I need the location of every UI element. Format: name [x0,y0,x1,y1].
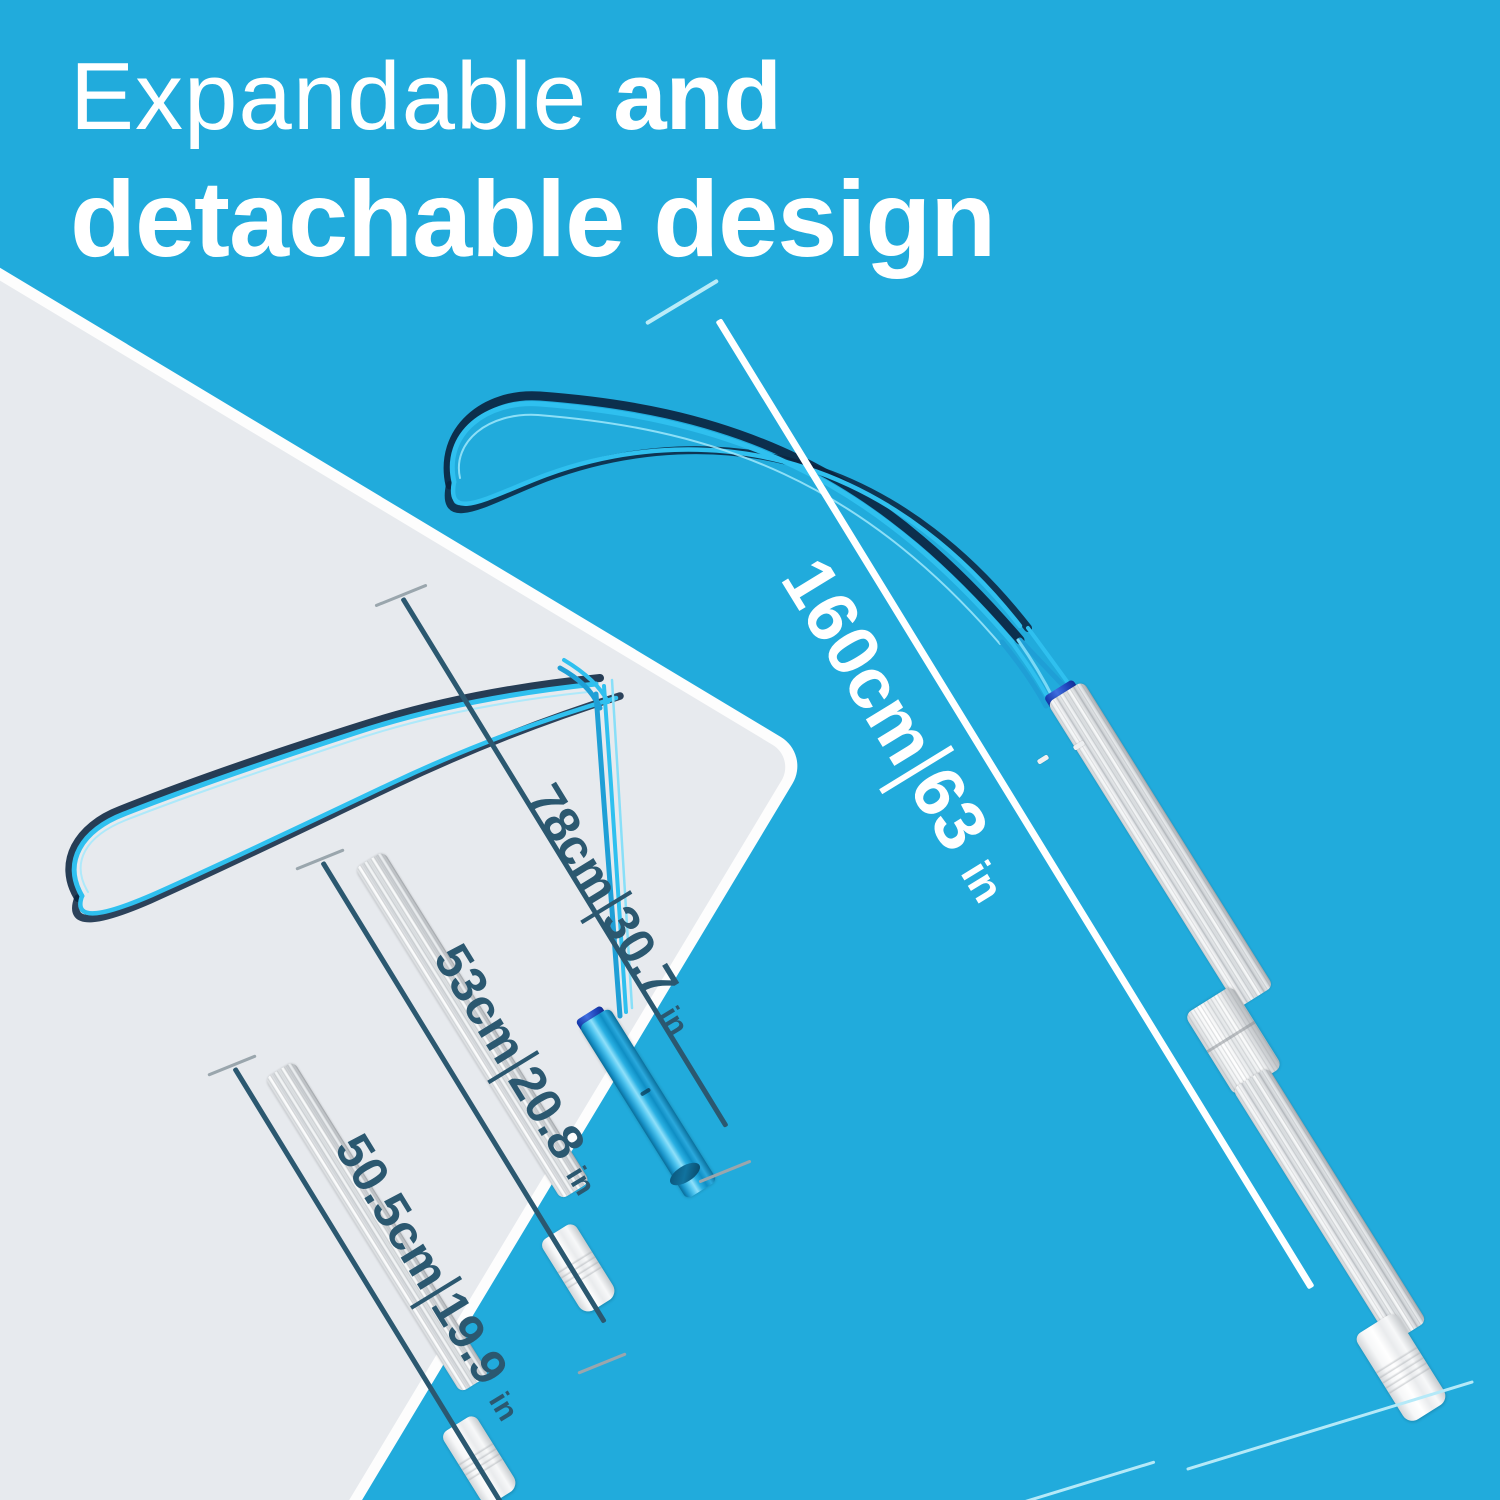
measure-tick-bottom-left-full-length [935,1460,1156,1500]
headline-line-2: detachable design [70,164,1410,274]
headline-word-expandable: Expandable [70,43,587,150]
headline-line-1: Expandable and [70,48,1410,146]
steel-pole-upper-assembled [1047,681,1273,1009]
end-cap-ribs [1375,1345,1432,1397]
measure-tick-bottom-mid-section [577,1352,626,1374]
hook-strand-upper-detached [560,660,640,720]
end-cap-assembled [1354,1311,1450,1425]
product-infographic: Expandable and detachable design [0,0,1500,1500]
pole-texture [1047,681,1273,1009]
measure-tick-bottom-full-length [1186,1380,1474,1471]
headline: Expandable and detachable design [70,48,1410,274]
headline-word-and: and [613,43,781,150]
